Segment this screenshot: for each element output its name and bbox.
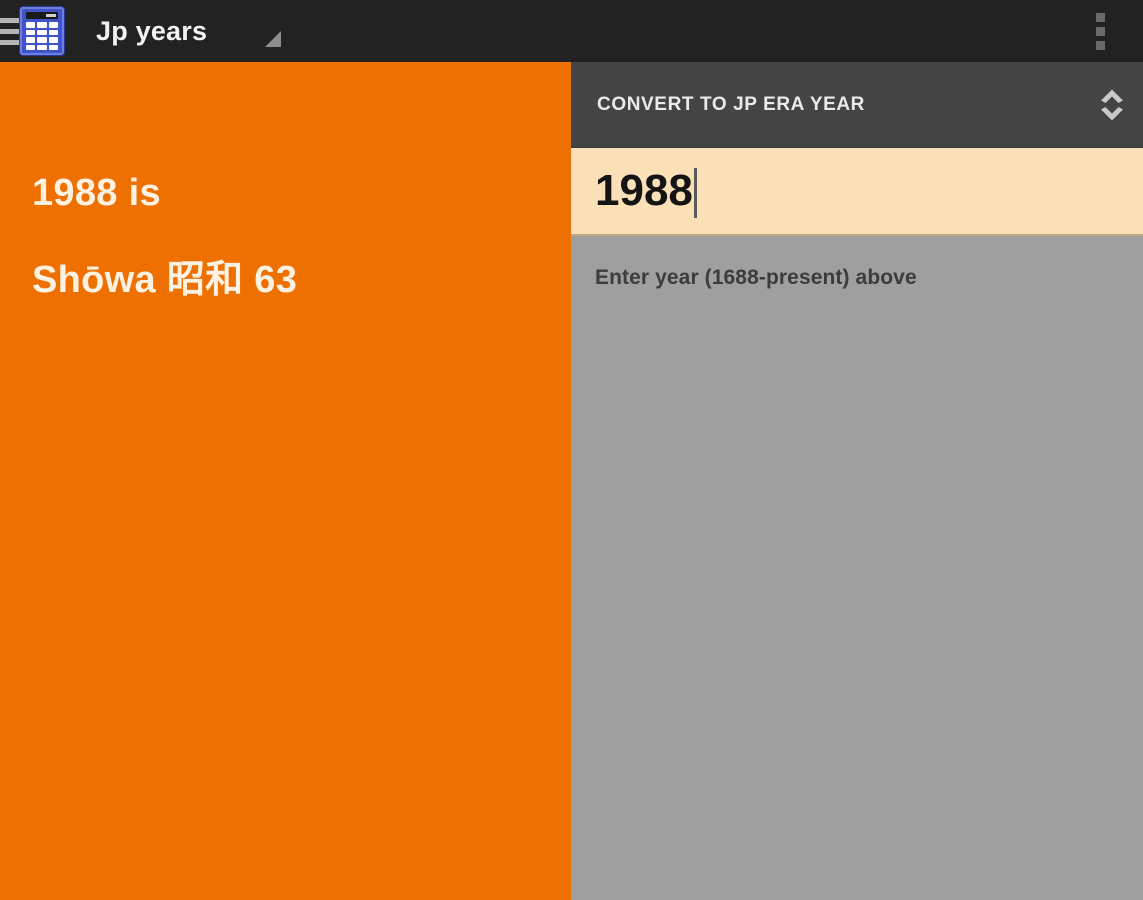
converter-section-title: CONVERT TO JP ERA YEAR (597, 94, 865, 116)
calculator-keys (26, 22, 58, 50)
conversion-result-panel: 1988 is Shōwa 昭和 63 (0, 62, 571, 900)
result-input-year-line: 1988 is (32, 172, 571, 215)
year-input-value: 1988 (595, 166, 693, 216)
dropdown-caret-icon[interactable] (265, 31, 281, 47)
hamburger-line (0, 40, 20, 45)
overflow-menu-icon[interactable] (1086, 0, 1115, 62)
overflow-dot (1096, 13, 1105, 22)
action-bar: Jp years (0, 0, 1143, 62)
hamburger-line (0, 18, 20, 23)
chevron-down-icon (1099, 106, 1125, 122)
year-input-hint: Enter year (1688-present) above (571, 236, 1143, 290)
calculator-icon[interactable] (20, 7, 64, 55)
overflow-dot (1096, 41, 1105, 50)
calculator-display (26, 12, 58, 19)
text-cursor (694, 168, 697, 218)
result-era-year-line: Shōwa 昭和 63 (32, 259, 571, 302)
hamburger-line (0, 29, 20, 34)
app-title: Jp years (96, 16, 207, 47)
converter-panel: CONVERT TO JP ERA YEAR 1988 Enter year (… (571, 62, 1143, 900)
overflow-dot (1096, 27, 1105, 36)
hamburger-icon[interactable] (0, 0, 16, 62)
year-input[interactable]: 1988 (571, 148, 1143, 236)
chevron-up-icon (1099, 87, 1125, 103)
converter-section-header[interactable]: CONVERT TO JP ERA YEAR (571, 62, 1143, 148)
up-down-chevron-icon[interactable] (1099, 87, 1125, 122)
